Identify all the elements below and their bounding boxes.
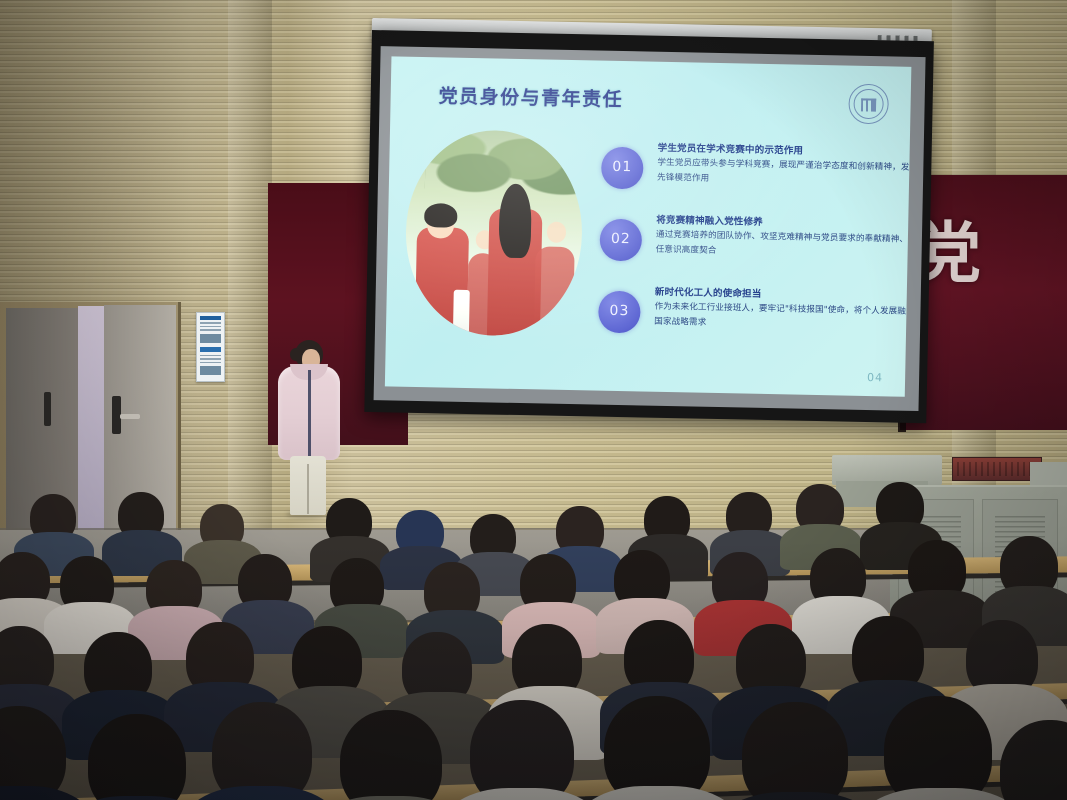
seal-inner-mark bbox=[861, 98, 876, 111]
slide-item-number-badge: 03 bbox=[598, 291, 641, 334]
slide-item-body: 作为未来化工行业接班人，要牢记"科技报国"使命，将个人发展融入国家战略需求 bbox=[654, 300, 911, 335]
presentation-slide: 党员身份与青年责任 bbox=[385, 56, 912, 396]
door-handle-right[interactable] bbox=[120, 414, 140, 419]
wall-notice-poster bbox=[196, 312, 225, 382]
poster-image-block bbox=[200, 334, 221, 343]
poster-line bbox=[200, 322, 221, 324]
slide-item-body: 通过竞赛培养的团队协作、攻坚克难精神与党员要求的奉献精神、责任意识高度契合 bbox=[655, 228, 911, 263]
poster-line bbox=[200, 329, 221, 331]
slide-item-number-badge: 02 bbox=[599, 219, 642, 262]
audience-head bbox=[742, 702, 848, 800]
poster-line bbox=[200, 355, 221, 357]
projection-screen[interactable]: 党员身份与青年责任 bbox=[364, 30, 934, 423]
photo-paper bbox=[453, 290, 470, 335]
poster-line bbox=[200, 358, 221, 360]
slide-item-number: 02 bbox=[600, 231, 642, 248]
poster-section-bar bbox=[200, 347, 221, 352]
slide-item-number: 03 bbox=[598, 303, 640, 320]
presenter-hair-bun bbox=[290, 348, 302, 361]
audience-head bbox=[88, 714, 186, 800]
photo-person-hair bbox=[499, 184, 532, 258]
poster-line bbox=[200, 362, 221, 364]
slide-circular-photo bbox=[404, 129, 584, 337]
audience bbox=[0, 470, 1067, 800]
audience-head bbox=[604, 696, 710, 800]
audience-head bbox=[340, 710, 442, 800]
audience-shoulders bbox=[710, 792, 884, 800]
photo-person bbox=[534, 246, 575, 337]
slide-page-number: 04 bbox=[867, 371, 883, 384]
photo-person-head bbox=[547, 222, 567, 243]
photo-person-hair bbox=[424, 203, 458, 228]
presenter-jacket-zipper bbox=[308, 370, 311, 456]
slide-item-number: 01 bbox=[601, 159, 643, 176]
lecture-hall-photo: 党 党员身份与青年责任 bbox=[0, 0, 1067, 800]
university-seal-logo bbox=[848, 84, 889, 125]
poster-line bbox=[200, 326, 221, 328]
slide-item-body: 学生党员应带头参与学科竞赛，展现严谨治学态度和创新精神，发挥先锋模范作用 bbox=[657, 156, 911, 191]
door-handle-left[interactable] bbox=[44, 392, 51, 426]
poster-image-block bbox=[200, 366, 221, 375]
poster-header-bar bbox=[200, 316, 221, 320]
slide-item-number-badge: 01 bbox=[601, 147, 644, 190]
slide-title: 党员身份与青年责任 bbox=[438, 81, 623, 112]
audience-head bbox=[470, 700, 574, 800]
audience-head bbox=[884, 696, 992, 800]
